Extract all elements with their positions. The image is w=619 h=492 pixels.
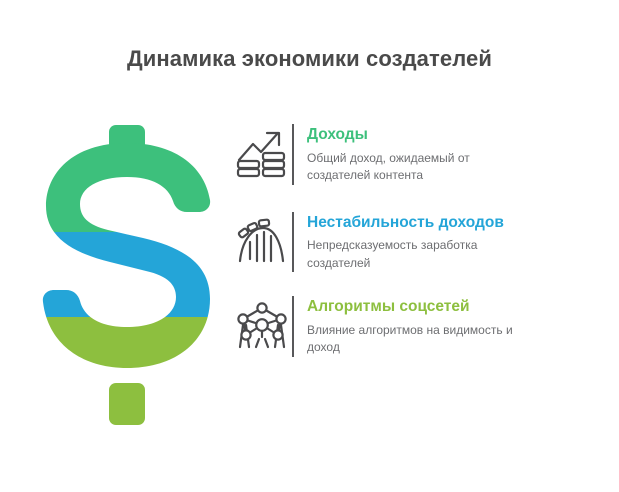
- dollar-sign-illustration: [42, 125, 212, 425]
- growth-chart-coins-icon: [236, 124, 292, 179]
- block-divider: [292, 124, 294, 185]
- block-description: Общий доход, ожидаемый от создателей кон…: [307, 150, 535, 185]
- block-description: Непредсказуемость заработка создателей: [307, 237, 535, 272]
- feature-block-volatility: Нестабильность доходов Непредсказуемость…: [236, 212, 596, 273]
- block-divider: [292, 296, 294, 357]
- feature-blocks: Доходы Общий доход, ожидаемый от создате…: [236, 124, 596, 357]
- block-heading: Алгоритмы соцсетей: [307, 297, 596, 317]
- block-text: Алгоритмы соцсетей Влияние алгоритмов на…: [307, 296, 596, 357]
- block-text: Нестабильность доходов Непредсказуемость…: [307, 212, 596, 273]
- block-text: Доходы Общий доход, ожидаемый от создате…: [307, 124, 596, 185]
- block-heading: Доходы: [307, 125, 596, 145]
- block-divider: [292, 212, 294, 273]
- block-heading: Нестабильность доходов: [307, 213, 596, 233]
- roller-coaster-icon: [236, 212, 292, 267]
- feature-block-revenue: Доходы Общий доход, ожидаемый от создате…: [236, 124, 596, 185]
- feature-block-algorithms: Алгоритмы соцсетей Влияние алгоритмов на…: [236, 296, 596, 357]
- block-description: Влияние алгоритмов на видимость и доход: [307, 322, 535, 357]
- page-title: Динамика экономики создателей: [0, 46, 619, 72]
- social-network-icon: [236, 296, 292, 351]
